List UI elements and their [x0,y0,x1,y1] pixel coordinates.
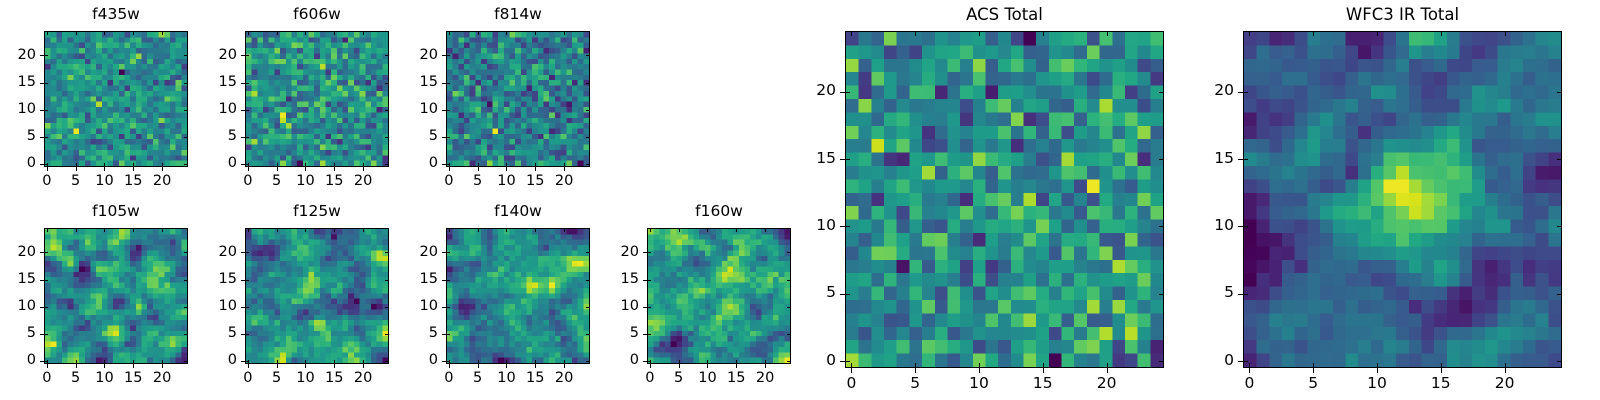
panel-title-acs-total: ACS Total [845,7,1164,24]
xtick-out-f125w-0 [248,364,249,368]
xticklabel-acs-total-4: 20 [1077,376,1137,392]
xtick-out-f814w-2 [506,167,507,171]
ytick-out-f105w-4 [40,252,44,253]
heatmap-image-f125w [246,229,388,363]
yticklabel-f125w-3: 15 [185,272,237,287]
ytick-out-f105w-0 [40,361,44,362]
ytick-wfc3-ir-total-2 [1243,226,1248,227]
yticklabel-f814w-1: 5 [386,129,438,144]
yticklabel-f125w-1: 5 [185,326,237,341]
yticklabel-f160w-0: 0 [587,353,639,368]
yticklabel-f125w-2: 10 [185,299,237,314]
ytick-out-f814w-3 [442,83,446,84]
yticklabel-acs-total-3: 15 [785,151,836,167]
yticklabel-wfc3-ir-total-3: 15 [1183,151,1234,167]
ytick-right-wfc3-ir-total-4 [1557,92,1562,93]
ytick-right-acs-total-1 [1159,294,1164,295]
xtick-out-f606w-2 [305,167,306,171]
xtick-top-f125w-1 [277,228,278,232]
yticklabel-wfc3-ir-total-0: 0 [1183,353,1234,369]
xtick-out-acs-total-1 [915,368,916,373]
yticklabel-f105w-0: 0 [0,353,36,368]
yticklabel-f814w-3: 15 [386,75,438,90]
ytick-f125w-2 [245,307,249,308]
ytick-right-f814w-4 [586,55,590,56]
xtick-out-acs-total-3 [1043,368,1044,373]
ytick-right-wfc3-ir-total-0 [1557,361,1562,362]
xtick-top-f160w-0 [650,228,651,232]
yticklabel-f435w-4: 20 [0,48,36,63]
yticklabel-acs-total-1: 5 [785,285,836,301]
xtick-out-f140w-1 [478,364,479,368]
plot-area-f140w[interactable] [446,228,590,364]
xtick-top-f606w-4 [363,31,364,35]
xtick-out-f160w-3 [736,364,737,368]
xticklabel-f606w-4: 20 [333,174,393,189]
ytick-wfc3-ir-total-0 [1243,361,1248,362]
xtick-out-wfc3-ir-total-0 [1249,368,1250,373]
ytick-out-f606w-0 [241,164,245,165]
ytick-f435w-2 [44,110,48,111]
ytick-out-f140w-1 [442,334,446,335]
panel-wfc3-ir-total: WFC3 IR Total0510152005101520 [1183,5,1572,396]
ytick-right-acs-total-0 [1159,361,1164,362]
ytick-out-wfc3-ir-total-4 [1238,92,1243,93]
ytick-out-f105w-1 [40,334,44,335]
xtick-top-f814w-3 [535,31,536,35]
xticklabel-wfc3-ir-total-0: 0 [1219,376,1279,392]
ytick-out-f140w-3 [442,280,446,281]
ytick-f814w-1 [446,137,450,138]
ytick-out-acs-total-4 [840,92,845,93]
plot-area-acs-total[interactable] [845,31,1164,368]
xtick-top-f125w-0 [248,228,249,232]
ytick-right-wfc3-ir-total-1 [1557,294,1562,295]
panel-title-wfc3-ir-total: WFC3 IR Total [1243,7,1562,24]
xtick-top-f814w-4 [564,31,565,35]
xtick-top-wfc3-ir-total-1 [1313,31,1314,36]
xtick-top-f125w-3 [334,228,335,232]
ytick-f125w-1 [245,334,249,335]
xtick-out-wfc3-ir-total-4 [1505,368,1506,373]
heatmap-image-f140w [447,229,589,363]
ytick-out-f435w-4 [40,55,44,56]
ytick-out-f105w-3 [40,280,44,281]
yticklabel-f606w-2: 10 [185,102,237,117]
xtick-out-f814w-3 [535,167,536,171]
xtick-out-f105w-1 [76,364,77,368]
ytick-f814w-2 [446,110,450,111]
panel-f125w: f125w0510152005101520 [185,202,399,392]
heatmap-image-f160w [648,229,790,363]
xtick-top-f140w-4 [564,228,565,232]
ytick-right-f814w-1 [586,137,590,138]
yticklabel-f435w-0: 0 [0,156,36,171]
ytick-acs-total-4 [845,92,850,93]
xtick-out-f140w-4 [564,364,565,368]
xtick-top-f125w-4 [363,228,364,232]
ytick-wfc3-ir-total-3 [1243,159,1248,160]
xtick-out-f435w-1 [76,167,77,171]
figure-canvas: f435w0510152005101520f606w05101520051015… [0,0,1600,400]
heatmap-image-wfc3-ir-total [1244,32,1561,367]
xtick-top-wfc3-ir-total-4 [1505,31,1506,36]
ytick-out-f125w-0 [241,361,245,362]
ytick-out-f160w-1 [643,334,647,335]
ytick-out-f125w-3 [241,280,245,281]
ytick-f606w-1 [245,137,249,138]
ytick-out-f125w-4 [241,252,245,253]
ytick-right-f814w-2 [586,110,590,111]
xtick-out-f160w-4 [765,364,766,368]
yticklabel-acs-total-4: 20 [785,83,836,99]
yticklabel-f435w-2: 10 [0,102,36,117]
xticklabel-f105w-4: 20 [132,371,192,386]
ytick-out-f125w-1 [241,334,245,335]
panel-f814w: f814w0510152005101520 [386,5,600,195]
ytick-out-acs-total-2 [840,226,845,227]
xtick-out-f814w-0 [449,167,450,171]
xtick-top-f606w-0 [248,31,249,35]
ytick-acs-total-2 [845,226,850,227]
yticklabel-f435w-1: 5 [0,129,36,144]
yticklabel-f105w-3: 15 [0,272,36,287]
ytick-out-wfc3-ir-total-3 [1238,159,1243,160]
ytick-out-wfc3-ir-total-1 [1238,294,1243,295]
xticklabel-wfc3-ir-total-2: 10 [1347,376,1407,392]
yticklabel-f125w-0: 0 [185,353,237,368]
ytick-out-f435w-3 [40,83,44,84]
panel-f435w: f435w0510152005101520 [0,5,198,195]
xtick-top-f814w-1 [478,31,479,35]
ytick-f125w-4 [245,252,249,253]
xticklabel-acs-total-1: 5 [885,376,945,392]
ytick-out-f814w-4 [442,55,446,56]
yticklabel-f160w-2: 10 [587,299,639,314]
xticklabel-wfc3-ir-total-3: 15 [1411,376,1471,392]
ytick-f606w-4 [245,55,249,56]
ytick-f160w-0 [647,361,651,362]
plot-area-wfc3-ir-total[interactable] [1243,31,1562,368]
xtick-top-f814w-0 [449,31,450,35]
ytick-out-wfc3-ir-total-2 [1238,226,1243,227]
xtick-top-f435w-3 [133,31,134,35]
ytick-f140w-3 [446,280,450,281]
ytick-f140w-2 [446,307,450,308]
ytick-acs-total-0 [845,361,850,362]
xticklabel-acs-total-3: 15 [1013,376,1073,392]
heatmap-image-f606w [246,32,388,166]
xtick-out-f606w-3 [334,167,335,171]
ytick-f435w-1 [44,137,48,138]
ytick-f814w-3 [446,83,450,84]
xtick-top-wfc3-ir-total-3 [1441,31,1442,36]
ytick-f140w-1 [446,334,450,335]
xtick-top-wfc3-ir-total-0 [1249,31,1250,36]
ytick-f105w-2 [44,307,48,308]
ytick-f125w-3 [245,280,249,281]
ytick-out-f140w-4 [442,252,446,253]
panel-title-f160w: f160w [647,204,791,220]
ytick-f160w-1 [647,334,651,335]
ytick-f814w-0 [446,164,450,165]
xtick-out-acs-total-2 [979,368,980,373]
ytick-right-wfc3-ir-total-3 [1557,159,1562,160]
xtick-top-f435w-1 [76,31,77,35]
ytick-out-f814w-1 [442,137,446,138]
xtick-out-f814w-4 [564,167,565,171]
ytick-out-f125w-2 [241,307,245,308]
xtick-top-f105w-1 [76,228,77,232]
ytick-acs-total-3 [845,159,850,160]
xticklabel-wfc3-ir-total-4: 20 [1475,376,1535,392]
ytick-out-f160w-2 [643,307,647,308]
xtick-out-wfc3-ir-total-2 [1377,368,1378,373]
heatmap-image-f105w [45,229,187,363]
yticklabel-f814w-2: 10 [386,102,438,117]
xtick-out-acs-total-4 [1107,368,1108,373]
yticklabel-f606w-4: 20 [185,48,237,63]
plot-area-f435w[interactable] [44,31,188,167]
ytick-out-f435w-0 [40,164,44,165]
plot-area-f814w[interactable] [446,31,590,167]
ytick-out-f606w-1 [241,137,245,138]
xtick-top-f105w-2 [104,228,105,232]
xtick-out-f160w-2 [707,364,708,368]
yticklabel-wfc3-ir-total-4: 20 [1183,83,1234,99]
panel-title-f125w: f125w [245,204,389,220]
yticklabel-f140w-0: 0 [386,353,438,368]
xtick-out-f606w-0 [248,167,249,171]
ytick-f105w-0 [44,361,48,362]
yticklabel-f606w-1: 5 [185,129,237,144]
heatmap-image-f435w [45,32,187,166]
xtick-top-f105w-0 [47,228,48,232]
ytick-out-f606w-2 [241,110,245,111]
yticklabel-f140w-1: 5 [386,326,438,341]
xtick-out-f606w-1 [277,167,278,171]
xtick-out-f125w-4 [363,364,364,368]
xtick-top-f160w-2 [707,228,708,232]
panel-title-f435w: f435w [44,7,188,23]
xtick-top-acs-total-4 [1107,31,1108,36]
plot-area-f606w[interactable] [245,31,389,167]
ytick-out-f105w-2 [40,307,44,308]
xtick-out-f435w-4 [162,167,163,171]
yticklabel-f105w-2: 10 [0,299,36,314]
xtick-out-f160w-1 [679,364,680,368]
yticklabel-f814w-0: 0 [386,156,438,171]
panel-f140w: f140w0510152005101520 [386,202,600,392]
xtick-top-f160w-4 [765,228,766,232]
ytick-f606w-2 [245,110,249,111]
ytick-f105w-3 [44,280,48,281]
ytick-out-f606w-3 [241,83,245,84]
xtick-top-f606w-1 [277,31,278,35]
xtick-top-f814w-2 [506,31,507,35]
ytick-out-wfc3-ir-total-0 [1238,361,1243,362]
yticklabel-f140w-3: 15 [386,272,438,287]
ytick-out-acs-total-3 [840,159,845,160]
yticklabel-wfc3-ir-total-1: 5 [1183,285,1234,301]
xtick-out-f160w-0 [650,364,651,368]
xticklabel-f435w-4: 20 [132,174,192,189]
xtick-top-f140w-3 [535,228,536,232]
xtick-top-f435w-0 [47,31,48,35]
ytick-f814w-4 [446,55,450,56]
panel-title-f606w: f606w [245,7,389,23]
xticklabel-acs-total-2: 10 [949,376,1009,392]
ytick-out-f140w-2 [442,307,446,308]
yticklabel-f814w-4: 20 [386,48,438,63]
xtick-out-f435w-2 [104,167,105,171]
xtick-top-f140w-1 [478,228,479,232]
yticklabel-f105w-4: 20 [0,245,36,260]
ytick-right-acs-total-3 [1159,159,1164,160]
plot-area-f160w[interactable] [647,228,791,364]
xtick-top-f105w-4 [162,228,163,232]
ytick-right-f814w-0 [586,164,590,165]
xtick-top-f160w-3 [736,228,737,232]
yticklabel-f140w-2: 10 [386,299,438,314]
ytick-wfc3-ir-total-1 [1243,294,1248,295]
ytick-out-f160w-0 [643,361,647,362]
panel-title-f814w: f814w [446,7,590,23]
ytick-out-f140w-0 [442,361,446,362]
heatmap-image-acs-total [846,32,1163,367]
xtick-out-f105w-2 [104,364,105,368]
ytick-out-f160w-3 [643,280,647,281]
ytick-f140w-0 [446,361,450,362]
ytick-f435w-0 [44,164,48,165]
xtick-top-f606w-3 [334,31,335,35]
xtick-top-f606w-2 [305,31,306,35]
panel-title-f140w: f140w [446,204,590,220]
plot-area-f105w[interactable] [44,228,188,364]
xticklabel-f814w-4: 20 [534,174,594,189]
ytick-right-acs-total-2 [1159,226,1164,227]
ytick-out-f606w-4 [241,55,245,56]
panel-f105w: f105w0510152005101520 [0,202,198,392]
ytick-out-f435w-2 [40,110,44,111]
xticklabel-acs-total-0: 0 [821,376,881,392]
panel-f606w: f606w0510152005101520 [185,5,399,195]
ytick-f435w-3 [44,83,48,84]
xticklabel-f140w-4: 20 [534,371,594,386]
ytick-right-f814w-3 [586,83,590,84]
ytick-f140w-4 [446,252,450,253]
xtick-out-f125w-3 [334,364,335,368]
yticklabel-f606w-0: 0 [185,156,237,171]
yticklabel-f160w-1: 5 [587,326,639,341]
xtick-out-f435w-0 [47,167,48,171]
xtick-top-f105w-3 [133,228,134,232]
panel-f160w: f160w0510152005101520 [587,202,801,392]
yticklabel-f160w-4: 20 [587,245,639,260]
xtick-top-acs-total-3 [1043,31,1044,36]
yticklabel-f140w-4: 20 [386,245,438,260]
ytick-f606w-0 [245,164,249,165]
ytick-acs-total-1 [845,294,850,295]
xtick-top-wfc3-ir-total-2 [1377,31,1378,36]
ytick-out-acs-total-1 [840,294,845,295]
xtick-out-f105w-0 [47,364,48,368]
ytick-f160w-3 [647,280,651,281]
xticklabel-f125w-4: 20 [333,371,393,386]
xtick-out-f105w-4 [162,364,163,368]
ytick-f606w-3 [245,83,249,84]
xtick-out-wfc3-ir-total-3 [1441,368,1442,373]
xtick-top-acs-total-1 [915,31,916,36]
xtick-out-f814w-1 [478,167,479,171]
ytick-f125w-0 [245,361,249,362]
yticklabel-acs-total-0: 0 [785,353,836,369]
ytick-f105w-4 [44,252,48,253]
xtick-top-f140w-0 [449,228,450,232]
xtick-top-f435w-4 [162,31,163,35]
xtick-out-f125w-1 [277,364,278,368]
yticklabel-acs-total-2: 10 [785,218,836,234]
yticklabel-f435w-3: 15 [0,75,36,90]
yticklabel-wfc3-ir-total-2: 10 [1183,218,1234,234]
xtick-out-f140w-3 [535,364,536,368]
xtick-top-f140w-2 [506,228,507,232]
yticklabel-f125w-4: 20 [185,245,237,260]
yticklabel-f160w-3: 15 [587,272,639,287]
xticklabel-wfc3-ir-total-1: 5 [1283,376,1343,392]
ytick-f105w-1 [44,334,48,335]
plot-area-f125w[interactable] [245,228,389,364]
xtick-top-f435w-2 [104,31,105,35]
ytick-f160w-2 [647,307,651,308]
xtick-out-f105w-3 [133,364,134,368]
xtick-top-acs-total-2 [979,31,980,36]
xtick-out-f125w-2 [305,364,306,368]
ytick-right-acs-total-4 [1159,92,1164,93]
ytick-out-f160w-4 [643,252,647,253]
panel-acs-total: ACS Total0510152005101520 [785,5,1174,396]
xtick-out-wfc3-ir-total-1 [1313,368,1314,373]
xtick-top-f125w-2 [305,228,306,232]
ytick-f435w-4 [44,55,48,56]
yticklabel-f606w-3: 15 [185,75,237,90]
xtick-out-f435w-3 [133,167,134,171]
xtick-top-acs-total-0 [851,31,852,36]
yticklabel-f105w-1: 5 [0,326,36,341]
xtick-out-f140w-2 [506,364,507,368]
ytick-out-f814w-2 [442,110,446,111]
xtick-out-acs-total-0 [851,368,852,373]
ytick-right-wfc3-ir-total-2 [1557,226,1562,227]
ytick-out-f814w-0 [442,164,446,165]
xtick-out-f606w-4 [363,167,364,171]
heatmap-image-f814w [447,32,589,166]
panel-title-f105w: f105w [44,204,188,220]
ytick-out-acs-total-0 [840,361,845,362]
ytick-wfc3-ir-total-4 [1243,92,1248,93]
xtick-out-f140w-0 [449,364,450,368]
ytick-out-f435w-1 [40,137,44,138]
xtick-top-f160w-1 [679,228,680,232]
ytick-f160w-4 [647,252,651,253]
